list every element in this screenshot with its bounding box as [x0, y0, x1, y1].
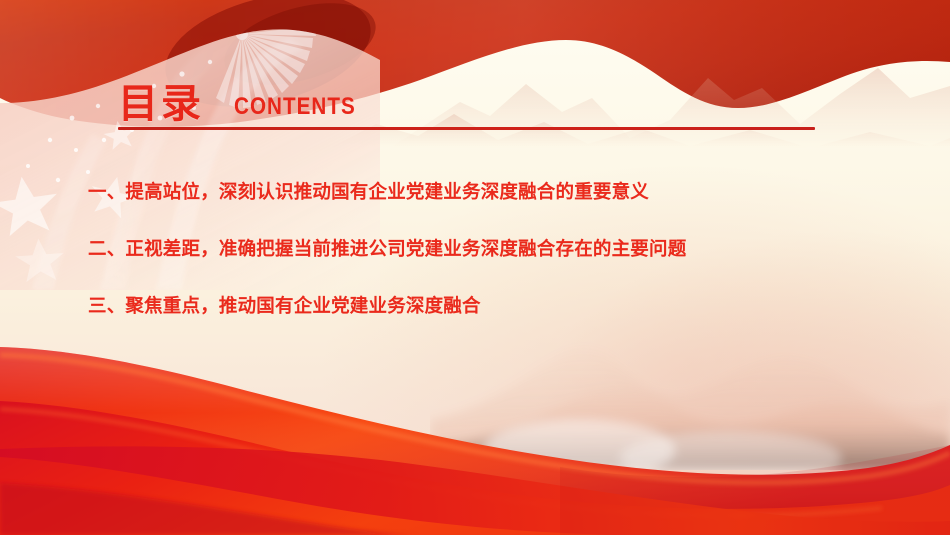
- slide-canvas: 目录 CONTENTS 一、提高站位，深刻认识推动国有企业党建业务深度融合的重要…: [0, 0, 950, 535]
- slide-header: 目录 CONTENTS: [118, 68, 818, 134]
- page-title: 目录: [118, 84, 204, 124]
- toc-item-3[interactable]: 三、聚焦重点，推动国有企业党建业务深度融合: [88, 290, 888, 347]
- page-subtitle: CONTENTS: [234, 95, 356, 119]
- title-underline: [118, 127, 815, 130]
- toc-item-1[interactable]: 一、提高站位，深刻认识推动国有企业党建业务深度融合的重要意义: [88, 176, 888, 233]
- table-of-contents: 一、提高站位，深刻认识推动国有企业党建业务深度融合的重要意义 二、正视差距，准确…: [88, 176, 888, 347]
- toc-item-2[interactable]: 二、正视差距，准确把握当前推进公司党建业务深度融合存在的主要问题: [88, 233, 888, 290]
